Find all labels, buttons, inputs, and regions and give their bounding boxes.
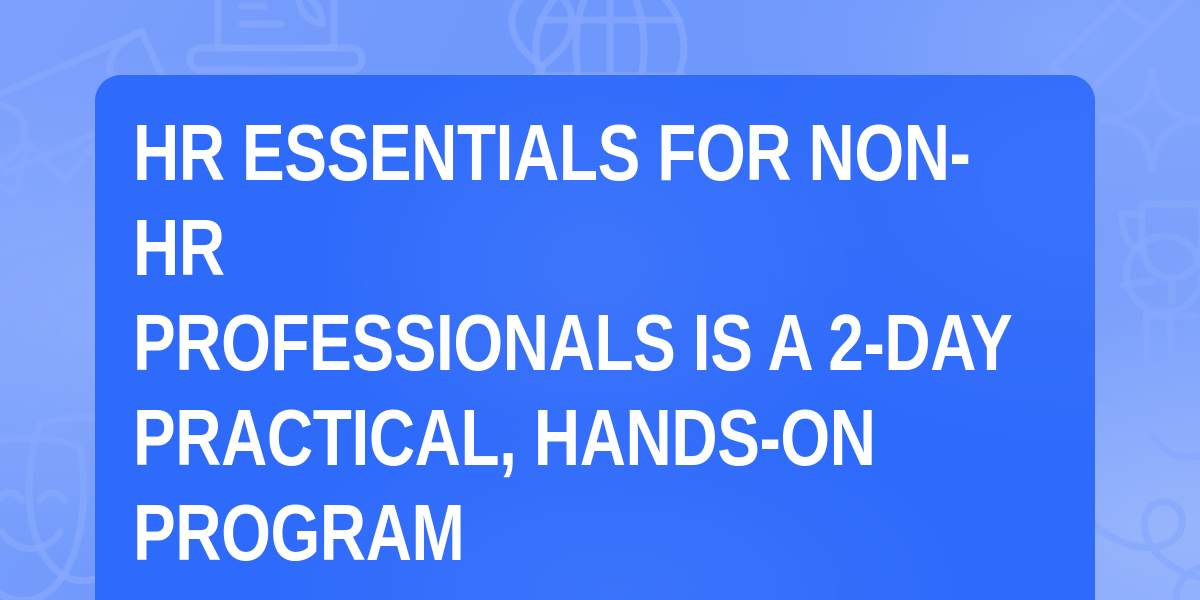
event-title: HR Essentials for Non-HR Professionals i…	[133, 105, 1055, 580]
card-content: HR Essentials for Non-HR Professionals i…	[133, 105, 1055, 600]
event-date: Thu, 05 Feb, 2026 at 09:00 AM	[133, 580, 1055, 600]
event-card: HR Essentials for Non-HR Professionals i…	[95, 75, 1095, 600]
microphone-icon	[1096, 218, 1200, 368]
sparkle-small-icon	[14, 258, 94, 348]
sparkle-icon	[1096, 60, 1200, 180]
event-banner: HR Essentials for Non-HR Professionals i…	[0, 0, 1200, 600]
